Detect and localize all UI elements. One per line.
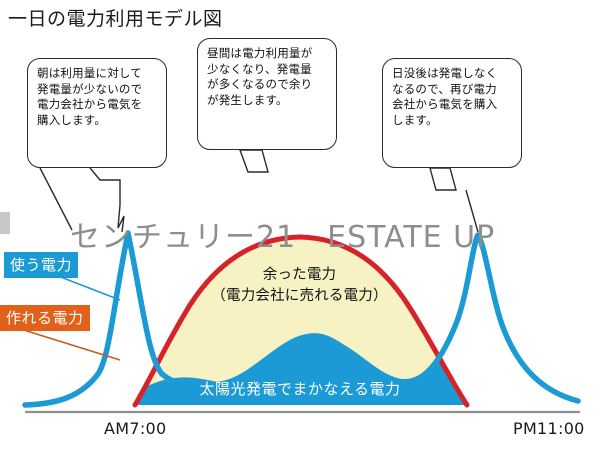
callout-tail-evening-arrow [466, 190, 478, 232]
callout-evening: 日没後は発電しなく なるので、再び電力 会社から電気を購入 します。 [382, 58, 522, 168]
callout-tail-morning [90, 168, 124, 232]
legend-make-leader [14, 327, 120, 360]
solar-region-label: 太陽光発電でまかなえる電力 [160, 378, 440, 399]
callout-morning-text: 朝は利用量に対して 発電量が少ないので 電力会社から電気を 購入します。 [37, 66, 158, 128]
legend-use-leader [58, 276, 120, 300]
axis-label-start: AM7:00 [104, 419, 166, 438]
callout-daytime: 昼間は電力利用量が 少なくなり、発電量 が多くなるので余り が発生します。 [197, 38, 337, 150]
watermark-fragment [0, 212, 10, 234]
legend-item-generation: 作れる電力 [0, 305, 90, 331]
callout-tail-morning-arrow [40, 168, 72, 230]
surplus-region-label: 余った電力 （電力会社に売れる電力） [192, 265, 407, 307]
callout-tail-evening [430, 168, 456, 190]
axis-label-end: PM11:00 [513, 419, 585, 438]
callout-morning: 朝は利用量に対して 発電量が少ないので 電力会社から電気を 購入します。 [27, 58, 167, 168]
energy-model-diagram: 一日の電力利用モデル図 [0, 0, 600, 450]
callout-daytime-text: 昼間は電力利用量が 少なくなり、発電量 が多くなるので余り が発生します。 [207, 46, 328, 108]
callout-tail-daytime [240, 150, 268, 172]
legend-item-consumption: 使う電力 [4, 252, 78, 278]
callout-evening-text: 日没後は発電しなく なるので、再び電力 会社から電気を購入 します。 [392, 66, 513, 128]
